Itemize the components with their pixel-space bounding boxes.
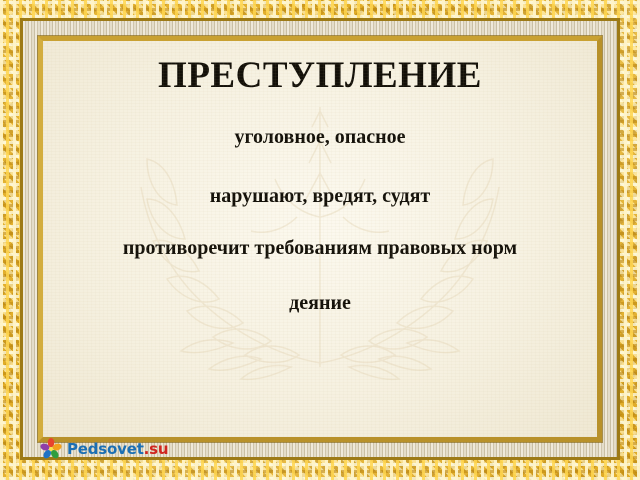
text-line-sentence: противоречит требованиям правовых норм — [43, 237, 597, 259]
text-line-synonym: деяние — [43, 292, 597, 314]
pedsovet-logo-name: Pedsovet — [67, 440, 144, 458]
text-line-verbs: нарушают, вредят, судят — [43, 185, 597, 207]
pedsovet-logo-tld: .su — [144, 440, 169, 458]
parchment-page: ПРЕСТУПЛЕНИЕ уголовное, опасное нарушают… — [43, 41, 597, 437]
text-line-adjectives: уголовное, опасное — [43, 126, 597, 148]
page-title: ПРЕСТУПЛЕНИЕ — [43, 57, 597, 96]
pedsovet-logo-text: Pedsovet.su — [67, 442, 168, 457]
slide-canvas: ПРЕСТУПЛЕНИЕ уголовное, опасное нарушают… — [0, 0, 640, 480]
pedsovet-logo[interactable]: Pedsovet.su — [40, 437, 156, 461]
pedsovet-pinwheel-icon — [40, 438, 62, 460]
